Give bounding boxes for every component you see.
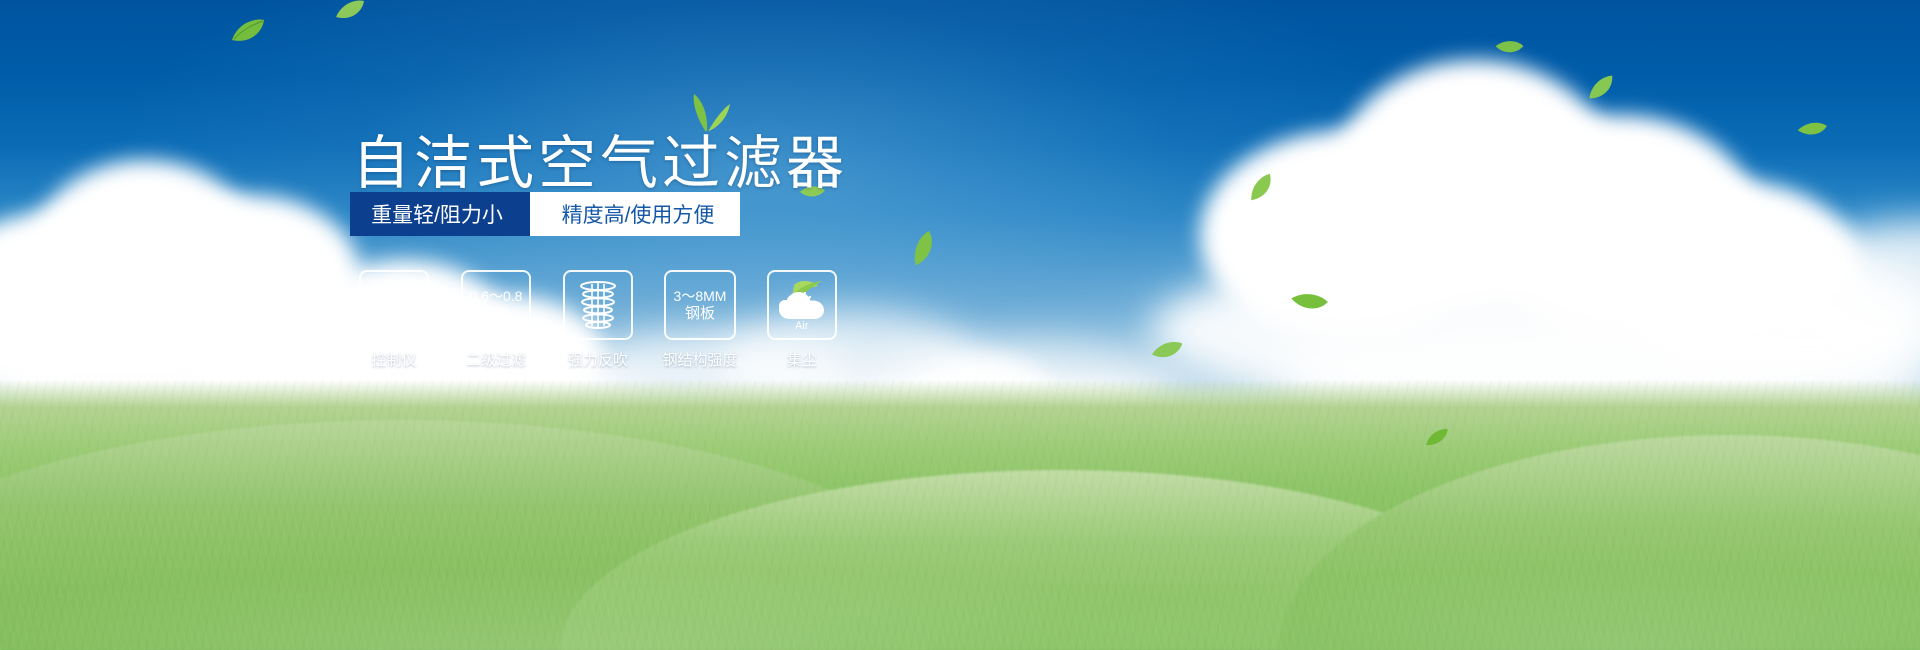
feature-tags: 重量轻/阻力小 精度高/使用方便 (350, 192, 740, 236)
pressure-value-text: 0.6～0.8 (470, 287, 523, 305)
feature-item-dust-collection[interactable]: Air 集尘 (766, 270, 838, 370)
feature-icon-box: 0.6～0.8 MPA (461, 270, 531, 340)
airflow-coil-icon (573, 280, 623, 330)
hero-banner: 自洁式空气过滤器 重量轻/阻力小 精度高/使用方便 (0, 0, 1920, 650)
banner-content: 自洁式空气过滤器 重量轻/阻力小 精度高/使用方便 (0, 0, 1920, 650)
feature-label: 二级过滤 (466, 349, 526, 370)
tag-high-precision-easy-use[interactable]: 精度高/使用方便 (530, 192, 740, 236)
feature-label: 集尘 (787, 349, 817, 370)
svg-text:OFF: OFF (403, 321, 416, 328)
steel-plate-text: 钢板 (685, 305, 715, 323)
feature-icon-box: NO OFF (359, 270, 429, 340)
feature-icon-row: NO OFF 控制仪 0.6～0.8 MPA 二级过滤 (358, 270, 838, 370)
control-dial-icon: NO OFF (365, 279, 423, 331)
feature-item-strong-backblow[interactable]: 强力反吹 (562, 270, 634, 370)
feature-item-control-instrument[interactable]: NO OFF 控制仪 (358, 270, 430, 370)
title-leaf-icon (680, 92, 732, 132)
tag-lightweight-low-resistance[interactable]: 重量轻/阻力小 (350, 192, 530, 236)
feature-item-steel-structure-strength[interactable]: 3～8MM 钢板 钢结构强度 (664, 270, 736, 370)
feature-label: 控制仪 (371, 349, 416, 370)
feature-item-secondary-filtration[interactable]: 0.6～0.8 MPA 二级过滤 (460, 270, 532, 370)
svg-text:Air: Air (795, 320, 809, 331)
dust-cloud-icon: Air (772, 279, 832, 331)
page-title: 自洁式空气过滤器 (352, 116, 848, 200)
feature-icon-box: 3～8MM 钢板 (664, 270, 736, 340)
steel-thickness-text: 3～8MM (674, 287, 727, 305)
svg-text:NO: NO (368, 305, 379, 312)
feature-icon-box: Air (767, 270, 837, 340)
feature-label: 钢结构强度 (663, 349, 738, 370)
pressure-unit-text: MPA (480, 305, 511, 323)
feature-label: 强力反吹 (568, 349, 628, 370)
feature-icon-box (563, 270, 633, 340)
